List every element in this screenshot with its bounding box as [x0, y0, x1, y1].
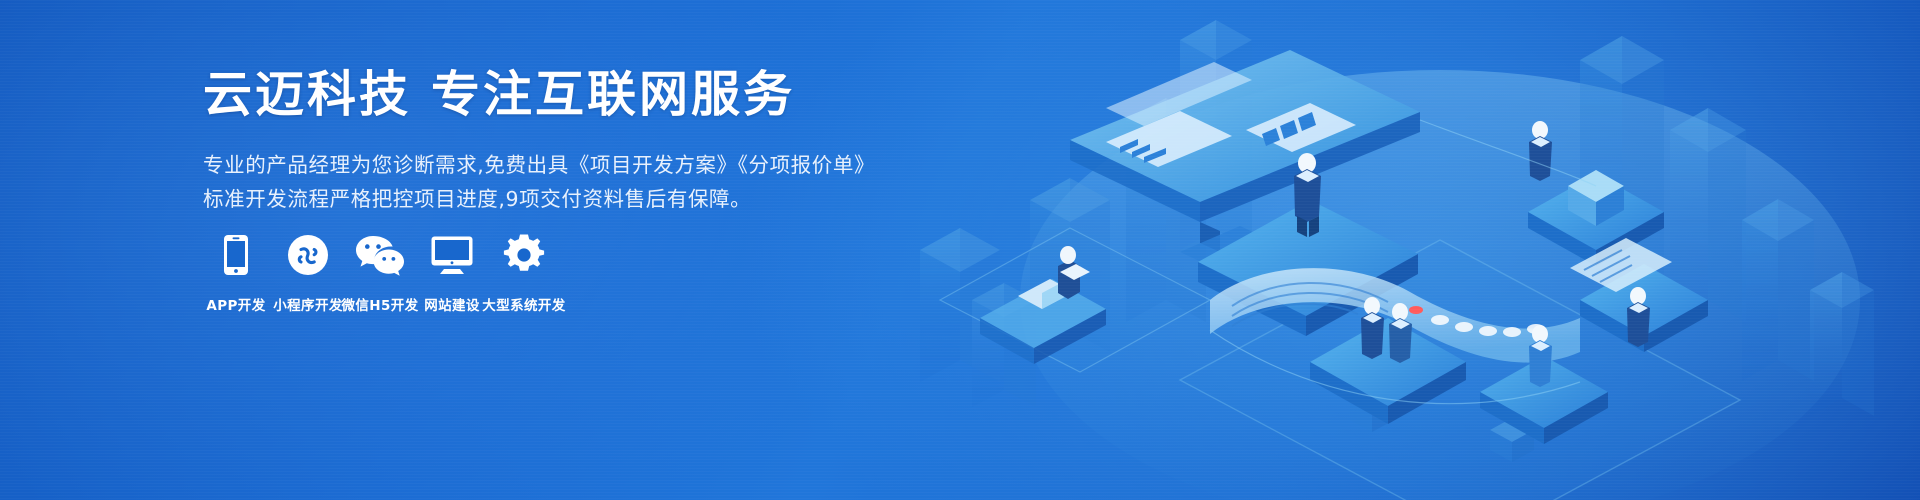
hero-copy: 云迈科技 专注互联网服务 专业的产品经理为您诊断需求,免费出具《项目开发方案》《…	[203, 68, 923, 216]
hero-subtitle: 专业的产品经理为您诊断需求,免费出具《项目开发方案》《分项报价单》 标准开发流程…	[203, 148, 923, 216]
isometric-illustration-svg	[880, 0, 1920, 500]
service-item-app[interactable]: APP开发	[200, 232, 272, 314]
service-item-wechat[interactable]: 微信H5开发	[344, 232, 416, 314]
service-label: 小程序开发	[273, 294, 343, 314]
gear-icon	[503, 232, 545, 278]
service-item-website[interactable]: 网站建设	[416, 232, 488, 314]
hero-banner: 云迈科技 专注互联网服务 专业的产品经理为您诊断需求,免费出具《项目开发方案》《…	[0, 0, 1920, 500]
service-label: 微信H5开发	[341, 294, 418, 314]
service-label: 网站建设	[424, 294, 480, 314]
monitor-icon	[431, 232, 473, 278]
service-label: APP开发	[206, 294, 265, 314]
service-item-system[interactable]: 大型系统开发	[488, 232, 560, 314]
service-icon-list: APP开发 小程序开发	[200, 232, 560, 314]
page-title: 云迈科技 专注互联网服务	[203, 68, 923, 123]
mobile-phone-icon	[223, 232, 249, 278]
subtitle-line-2: 标准开发流程严格把控项目进度,9项交付资料售后有保障。	[203, 182, 923, 216]
hero-illustration	[880, 0, 1920, 500]
mini-program-icon	[287, 232, 329, 278]
subtitle-line-1: 专业的产品经理为您诊断需求,免费出具《项目开发方案》《分项报价单》	[203, 148, 923, 182]
wechat-icon	[356, 232, 404, 278]
service-label: 大型系统开发	[482, 294, 565, 314]
service-item-miniprogram[interactable]: 小程序开发	[272, 232, 344, 314]
